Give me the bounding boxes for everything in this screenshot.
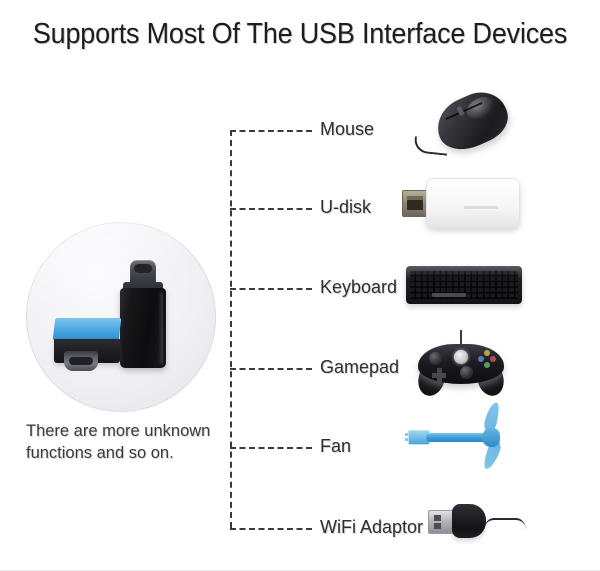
product-caption: There are more unknown functions and so … [26,420,231,464]
device-label-fan: Fan [320,435,351,457]
connector-branch-gamepad [230,368,312,370]
device-label-keyboard: Keyboard [320,276,397,298]
keyboard-spacebar [432,293,466,297]
device-label-udisk: U-disk [320,196,371,218]
connector-branch-keyboard [230,288,312,290]
mouse-icon [414,86,520,162]
caption-line-2: functions and so on. [26,444,174,462]
product-photo-circle [26,222,216,412]
connector-branch-fan [230,447,312,449]
gamepad-stick-right [460,366,473,379]
fan-hub [482,428,500,447]
connector-branch-udisk [230,208,312,210]
device-label-mouse: Mouse [320,118,374,140]
usb-c-plug-icon [64,351,98,371]
connector-branch-mouse [230,130,312,132]
gamepad-stick-left [429,352,442,365]
connector-branch-wifi [230,528,312,530]
usb-flash-drive-icon [402,172,522,234]
device-label-wifi-adaptor: WiFi Adaptor [320,516,423,538]
gamepad-dpad-icon [432,368,446,382]
wifi-dongle-icon [428,500,528,544]
connector-spine [230,130,232,528]
device-label-gamepad: Gamepad [320,356,399,378]
caption-line-1: There are more unknown [26,422,210,440]
gamepad-guide-button [454,350,468,364]
wifi-dongle-cable [484,518,526,530]
keyboard-highlight [406,266,522,278]
usb-c-otg-adapter-blue [54,318,128,376]
gamepad-icon [412,330,512,400]
keyboard-icon [406,262,522,308]
flash-drive-seam [464,206,498,209]
gamepad-face-buttons [478,350,496,366]
infographic-page: Supports Most Of The USB Interface Devic… [0,0,600,571]
fan-flexible-neck [426,433,488,442]
adapter-top-face [53,318,122,340]
usb-fan-icon [408,406,516,468]
page-title: Supports Most Of The USB Interface Devic… [21,16,579,52]
flash-drive-body [426,178,520,228]
wifi-dongle-body [452,504,486,538]
